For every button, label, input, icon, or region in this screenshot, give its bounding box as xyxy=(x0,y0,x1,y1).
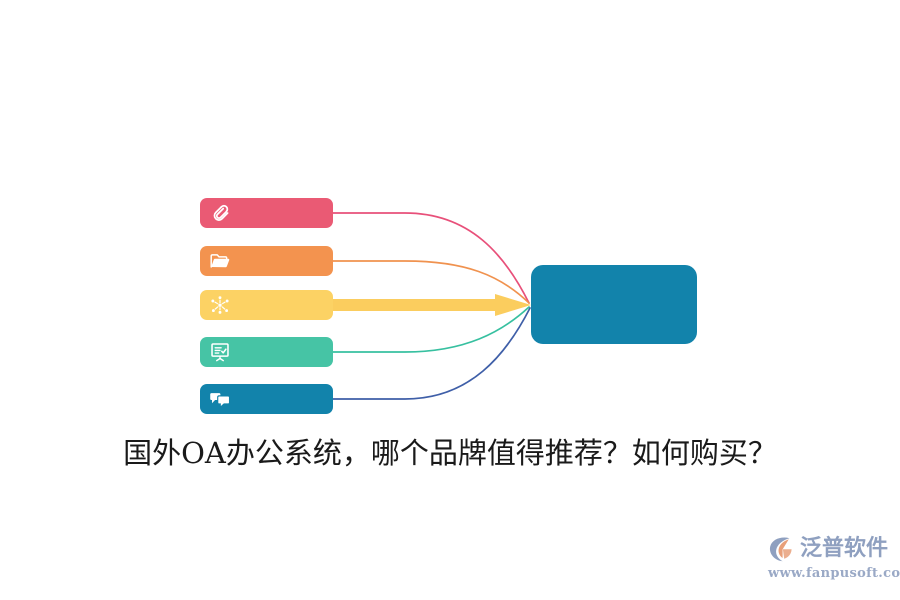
diagram-canvas: 国外OA办公系统，哪个品牌值得推荐？如何购买？ 泛普软件 www.fanpuso… xyxy=(0,0,900,600)
feature-bar-2[interactable] xyxy=(200,246,333,276)
paperclip-icon xyxy=(209,202,231,224)
brand-url: www.fanpusoft.com xyxy=(768,566,892,582)
feature-bar-3[interactable] xyxy=(200,290,333,320)
brand-name: 泛普软件 xyxy=(800,535,888,563)
feature-bar-4[interactable] xyxy=(200,337,333,367)
connector-line-1 xyxy=(333,213,529,303)
page-title: 国外OA办公系统，哪个品牌值得推荐？如何购买？ xyxy=(0,433,900,473)
presentation-board-icon xyxy=(209,341,231,363)
brand-logo-icon xyxy=(768,535,798,563)
connector-arrow-3 xyxy=(333,294,531,316)
chat-bubbles-icon xyxy=(209,388,231,410)
connector-lines xyxy=(0,0,900,600)
feature-bar-1[interactable] xyxy=(200,198,333,228)
connector-line-5 xyxy=(333,308,530,399)
network-share-icon xyxy=(209,294,231,316)
feature-bar-5[interactable] xyxy=(200,384,333,414)
watermark: 泛普软件 www.fanpusoft.com xyxy=(768,533,892,585)
result-box[interactable] xyxy=(531,265,697,344)
open-folder-icon xyxy=(209,250,231,272)
